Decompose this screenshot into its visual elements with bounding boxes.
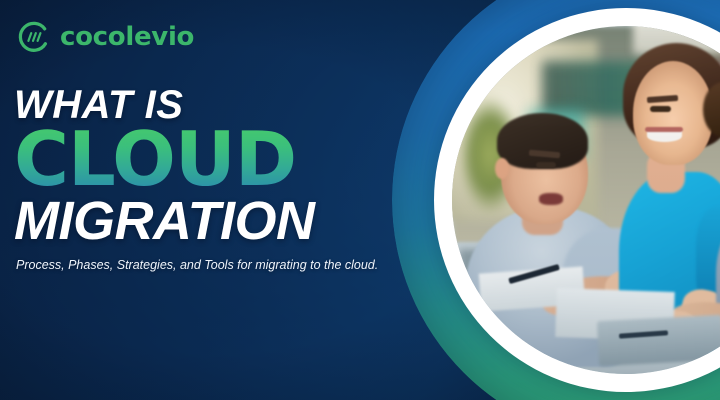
brand-logo[interactable]: cocolevio <box>16 20 194 54</box>
headline-line-migration: MIGRATION <box>14 196 414 248</box>
brand-wordmark: cocolevio <box>60 24 194 50</box>
photo-color-grade <box>452 26 720 374</box>
cocolevio-circle-bars-icon <box>16 20 50 54</box>
photo-scene <box>452 26 720 374</box>
headline-block: WHAT IS CLOUD MIGRATION Process, Phases,… <box>14 86 414 273</box>
hero-photo <box>452 26 720 374</box>
slide-canvas: cocolevio WHAT IS CLOUD MIGRATION Proces… <box>0 0 720 400</box>
subtitle-text: Process, Phases, Strategies, and Tools f… <box>16 258 414 273</box>
headline-line-cloud: CLOUD <box>14 125 414 194</box>
